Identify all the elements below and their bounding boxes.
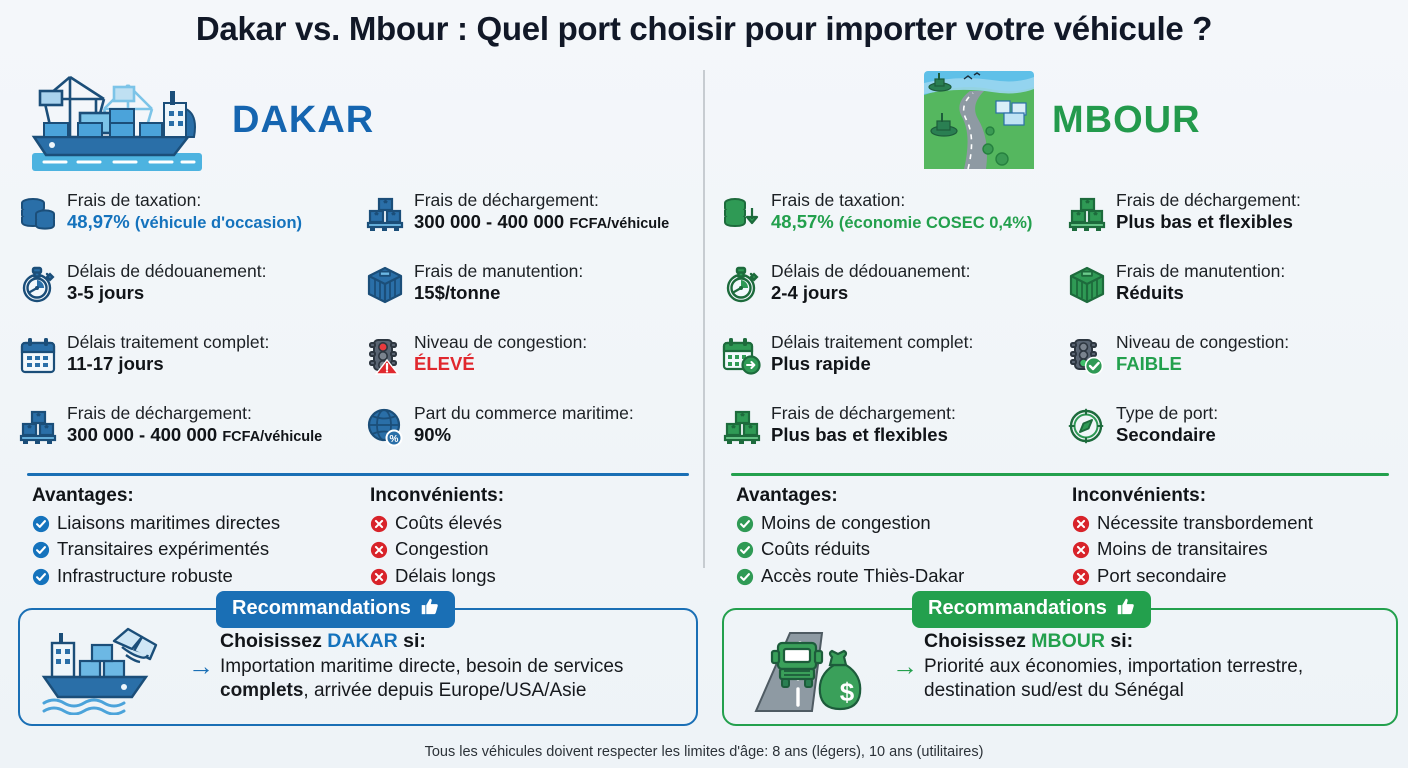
mbour-stat-4: Délais traitement complet:Plus rapide xyxy=(722,330,1053,396)
dakar-stat-0-text: Frais de taxation:48,97% (véhicule d'occ… xyxy=(67,188,302,234)
mbour-cons-item: Port secondaire xyxy=(1072,563,1398,589)
dakar-stat-2: Délais de dédouanement:3-5 jours xyxy=(18,259,351,325)
mbour-stat-6-label: Frais de déchargement: xyxy=(771,403,956,423)
dakar-cons-item: Coûts élevés xyxy=(370,510,698,536)
mbour-stat-7-text: Type de port:Secondaire xyxy=(1116,401,1218,446)
dakar-pros-item: Infrastructure robuste xyxy=(32,563,360,589)
check-circle-icon xyxy=(32,514,50,532)
cargo-ship-handshake-icon xyxy=(34,619,184,715)
mbour-cons-label: Moins de transitaires xyxy=(1097,536,1268,562)
mbour-stat-2-label: Délais de dédouanement: xyxy=(771,261,970,281)
dakar-stat-2-value: 3-5 jours xyxy=(67,282,266,304)
mbour-stat-5-label: Niveau de congestion: xyxy=(1116,332,1289,352)
stopwatch-icon xyxy=(18,265,58,305)
mbour-recommendation-line1: Priorité aux économies, importation terr… xyxy=(924,655,1303,679)
coins-arrow-down-icon xyxy=(722,194,762,234)
mbour-cons-heading: Inconvénients: xyxy=(1072,485,1398,507)
dakar-stat-4-value: 11-17 jours xyxy=(67,353,269,375)
dakar-stat-0-label: Frais de taxation: xyxy=(67,190,302,210)
mbour-separator xyxy=(731,473,1389,476)
dakar-stats-grid: Frais de taxation:48,97% (véhicule d'occ… xyxy=(18,188,698,467)
mbour-stats-grid: Frais de taxation:48,57% (économie COSEC… xyxy=(722,188,1398,467)
cross-circle-icon xyxy=(370,540,388,558)
container-box-icon xyxy=(1067,265,1107,305)
mbour-recommendation: Recommandations xyxy=(722,608,1398,726)
mbour-cons-label: Port secondaire xyxy=(1097,563,1227,589)
mbour-recommendation-line2: destination sud/est du Sénégal xyxy=(924,679,1303,703)
mbour-recommendation-badge: Recommandations xyxy=(912,591,1151,628)
mbour-stat-5-text: Niveau de congestion:FAIBLE xyxy=(1116,330,1289,375)
dakar-stat-2-label: Délais de dédouanement: xyxy=(67,261,266,281)
dakar-pros-item: Liaisons maritimes directes xyxy=(32,510,360,536)
cross-circle-icon xyxy=(1072,540,1090,558)
dakar-pros-item: Transitaires expérimentés xyxy=(32,536,360,562)
coastal-road-port-icon xyxy=(920,65,1038,175)
mbour-pros-heading: Avantages: xyxy=(736,485,1062,507)
mbour-pros-item: Moins de congestion xyxy=(736,510,1062,536)
mbour-cons-label: Nécessite transbordement xyxy=(1097,510,1313,536)
dakar-stat-6: Frais de déchargement:300 000 - 400 000 … xyxy=(18,401,351,467)
dakar-stat-3-label: Frais de manutention: xyxy=(414,261,583,281)
mbour-cons-item: Nécessite transbordement xyxy=(1072,510,1398,536)
traffic-light-check-icon xyxy=(1067,336,1107,376)
dakar-cons-item: Délais longs xyxy=(370,563,698,589)
mbour-recommendation-text: Choisissez MBOUR si: Priorité aux économ… xyxy=(922,630,1303,704)
svg-text:$: $ xyxy=(840,677,855,707)
dakar-stat-1-value: 300 000 - 400 000 FCFA/véhicule xyxy=(414,211,669,233)
dakar-stat-6-value: 300 000 - 400 000 FCFA/véhicule xyxy=(67,424,322,446)
mbour-stat-0-value: 48,57% (économie COSEC 0,4%) xyxy=(771,211,1032,234)
mbour-pros: Avantages: Moins de congestion Coûts réd… xyxy=(736,485,1062,589)
dakar-cons-label: Coûts élevés xyxy=(395,510,502,536)
check-circle-icon xyxy=(32,540,50,558)
dakar-title: DAKAR xyxy=(232,99,374,142)
mbour-stat-3: Frais de manutention:Réduits xyxy=(1067,259,1398,325)
dakar-stat-0: Frais de taxation:48,97% (véhicule d'occ… xyxy=(18,188,351,254)
dakar-stat-5: Niveau de congestion:ÉLEVÉ xyxy=(365,330,698,396)
dakar-recommendation-line2: complets, arrivée depuis Europe/USA/Asie xyxy=(220,679,623,703)
mbour-stat-0-text: Frais de taxation:48,57% (économie COSEC… xyxy=(771,188,1032,234)
dakar-stat-4-text: Délais traitement complet:11-17 jours xyxy=(67,330,269,375)
dakar-recommendation-text: Choisissez DAKAR si: Importation maritim… xyxy=(218,630,623,704)
dakar-recommendation-badge-label: Recommandations xyxy=(232,597,411,620)
dakar-cons-label: Congestion xyxy=(395,536,489,562)
dakar-pros-label: Infrastructure robuste xyxy=(57,563,233,589)
dakar-recommendation-badge: Recommandations xyxy=(216,591,455,628)
boxes-pallet-icon xyxy=(18,407,58,447)
page-title: Dakar vs. Mbour : Quel port choisir pour… xyxy=(0,10,1408,48)
mbour-stat-6: Frais de déchargement:Plus bas et flexib… xyxy=(722,401,1053,467)
check-circle-icon xyxy=(32,567,50,585)
dakar-stat-5-text: Niveau de congestion:ÉLEVÉ xyxy=(414,330,587,375)
footer-note: Tous les véhicules doivent respecter les… xyxy=(0,744,1408,760)
arrow-right-icon: → xyxy=(888,651,922,682)
mbour-recommendation-title: Choisissez MBOUR si: xyxy=(924,630,1303,653)
dakar-stat-7-value: 90% xyxy=(414,424,634,446)
dakar-stat-7: %Part du commerce maritime:90% xyxy=(365,401,698,467)
dakar-recommendation: Recommandations xyxy=(18,608,698,726)
cross-circle-icon xyxy=(370,514,388,532)
cross-circle-icon xyxy=(1072,514,1090,532)
dakar-stat-4: Délais traitement complet:11-17 jours xyxy=(18,330,351,396)
mbour-stat-6-value: Plus bas et flexibles xyxy=(771,424,956,446)
dakar-cons-label: Délais longs xyxy=(395,563,496,589)
compass-icon xyxy=(1067,407,1107,447)
mbour-stat-0: Frais de taxation:48,57% (économie COSEC… xyxy=(722,188,1053,254)
boxes-pallet-icon xyxy=(365,194,405,234)
dakar-stat-0-value: 48,97% (véhicule d'occasion) xyxy=(67,211,302,234)
mbour-stat-7-label: Type de port: xyxy=(1116,403,1218,423)
boxes-pallet-icon xyxy=(1067,194,1107,234)
mbour-stat-2: Délais de dédouanement:2-4 jours xyxy=(722,259,1053,325)
dakar-stat-6-label: Frais de déchargement: xyxy=(67,403,322,423)
mbour-pros-item: Accès route Thiès-Dakar xyxy=(736,563,1062,589)
mbour-stat-5: Niveau de congestion:FAIBLE xyxy=(1067,330,1398,396)
container-box-icon xyxy=(365,265,405,305)
dakar-stat-3-text: Frais de manutention:15$/tonne xyxy=(414,259,583,304)
calendar-icon xyxy=(18,336,58,376)
mbour-stat-7-value: Secondaire xyxy=(1116,424,1218,446)
thumbs-up-icon xyxy=(1115,596,1135,622)
dakar-pros-label: Transitaires expérimentés xyxy=(57,536,269,562)
dakar-stat-7-text: Part du commerce maritime:90% xyxy=(414,401,634,446)
mbour-cons: Inconvénients: Nécessite transbordement … xyxy=(1072,485,1398,589)
traffic-light-warning-icon xyxy=(365,336,405,376)
dakar-separator xyxy=(27,473,689,476)
mbour-stat-4-label: Délais traitement complet: xyxy=(771,332,973,352)
mbour-stat-1: Frais de déchargement:Plus bas et flexib… xyxy=(1067,188,1398,254)
mbour-stat-4-text: Délais traitement complet:Plus rapide xyxy=(771,330,973,375)
mbour-pros-cons: Avantages: Moins de congestion Coûts réd… xyxy=(736,485,1398,589)
check-circle-icon xyxy=(736,540,754,558)
mbour-stat-7: Type de port:Secondaire xyxy=(1067,401,1398,467)
thumbs-up-icon xyxy=(419,596,439,622)
check-circle-icon xyxy=(736,514,754,532)
svg-text:%: % xyxy=(390,434,399,445)
dakar-stat-4-label: Délais traitement complet: xyxy=(67,332,269,352)
truck-road-money-bag-icon: $ xyxy=(738,619,888,715)
mbour-stat-2-value: 2-4 jours xyxy=(771,282,970,304)
container-ship-port-crane-icon xyxy=(18,65,218,175)
column-divider xyxy=(703,70,705,568)
mbour-pros-item: Coûts réduits xyxy=(736,536,1062,562)
mbour-column: MBOUR Frais de taxation:48,57% (économie… xyxy=(722,62,1398,726)
mbour-stat-1-text: Frais de déchargement:Plus bas et flexib… xyxy=(1116,188,1301,233)
boxes-pallet-icon xyxy=(722,407,762,447)
cross-circle-icon xyxy=(370,567,388,585)
mbour-stat-4-value: Plus rapide xyxy=(771,353,973,375)
mbour-stat-0-label: Frais de taxation: xyxy=(771,190,1032,210)
dakar-stat-1-text: Frais de déchargement:300 000 - 400 000 … xyxy=(414,188,669,234)
dakar-pros-cons: Avantages: Liaisons maritimes directes T… xyxy=(32,485,698,589)
mbour-stat-6-text: Frais de déchargement:Plus bas et flexib… xyxy=(771,401,956,446)
dakar-stat-1: Frais de déchargement:300 000 - 400 000 … xyxy=(365,188,698,254)
infographic-page: Dakar vs. Mbour : Quel port choisir pour… xyxy=(0,0,1408,768)
mbour-stat-2-text: Délais de dédouanement:2-4 jours xyxy=(771,259,970,304)
dakar-stat-5-value: ÉLEVÉ xyxy=(414,353,587,375)
dakar-recommendation-title: Choisissez DAKAR si: xyxy=(220,630,623,653)
mbour-title: MBOUR xyxy=(1052,99,1201,142)
dakar-stat-5-label: Niveau de congestion: xyxy=(414,332,587,352)
dakar-stat-3: Frais de manutention:15$/tonne xyxy=(365,259,698,325)
mbour-pros-label: Coûts réduits xyxy=(761,536,870,562)
arrow-right-icon: → xyxy=(184,651,218,682)
dakar-pros-label: Liaisons maritimes directes xyxy=(57,510,280,536)
dakar-stat-1-label: Frais de déchargement: xyxy=(414,190,669,210)
mbour-stat-3-value: Réduits xyxy=(1116,282,1285,304)
check-circle-icon xyxy=(736,567,754,585)
dakar-recommendation-line1: Importation maritime directe, besoin de … xyxy=(220,655,623,679)
dakar-pros-heading: Avantages: xyxy=(32,485,360,507)
mbour-stat-3-label: Frais de manutention: xyxy=(1116,261,1285,281)
dakar-stat-3-value: 15$/tonne xyxy=(414,282,583,304)
mbour-cons-item: Moins de transitaires xyxy=(1072,536,1398,562)
dakar-column: DAKAR Frais de taxation:48,97% (véhicule… xyxy=(18,62,698,726)
mbour-stat-3-text: Frais de manutention:Réduits xyxy=(1116,259,1285,304)
dakar-cons-item: Congestion xyxy=(370,536,698,562)
mbour-pros-label: Moins de congestion xyxy=(761,510,931,536)
mbour-stat-5-value: FAIBLE xyxy=(1116,353,1289,375)
dakar-pros: Avantages: Liaisons maritimes directes T… xyxy=(32,485,360,589)
dakar-brand-header: DAKAR xyxy=(18,62,698,178)
calendar-fast-icon xyxy=(722,336,762,376)
mbour-stat-1-label: Frais de déchargement: xyxy=(1116,190,1301,210)
dakar-cons-heading: Inconvénients: xyxy=(370,485,698,507)
mbour-brand-header: MBOUR xyxy=(722,62,1398,178)
dakar-cons: Inconvénients: Coûts élevés Congestion D… xyxy=(370,485,698,589)
coins-stack-icon xyxy=(18,194,58,234)
dakar-stat-7-label: Part du commerce maritime: xyxy=(414,403,634,423)
cross-circle-icon xyxy=(1072,567,1090,585)
mbour-recommendation-badge-label: Recommandations xyxy=(928,597,1107,620)
globe-percent-icon: % xyxy=(365,407,405,447)
dakar-stat-2-text: Délais de dédouanement:3-5 jours xyxy=(67,259,266,304)
stopwatch-icon xyxy=(722,265,762,305)
mbour-stat-1-value: Plus bas et flexibles xyxy=(1116,211,1301,233)
mbour-pros-label: Accès route Thiès-Dakar xyxy=(761,563,964,589)
dakar-stat-6-text: Frais de déchargement:300 000 - 400 000 … xyxy=(67,401,322,447)
